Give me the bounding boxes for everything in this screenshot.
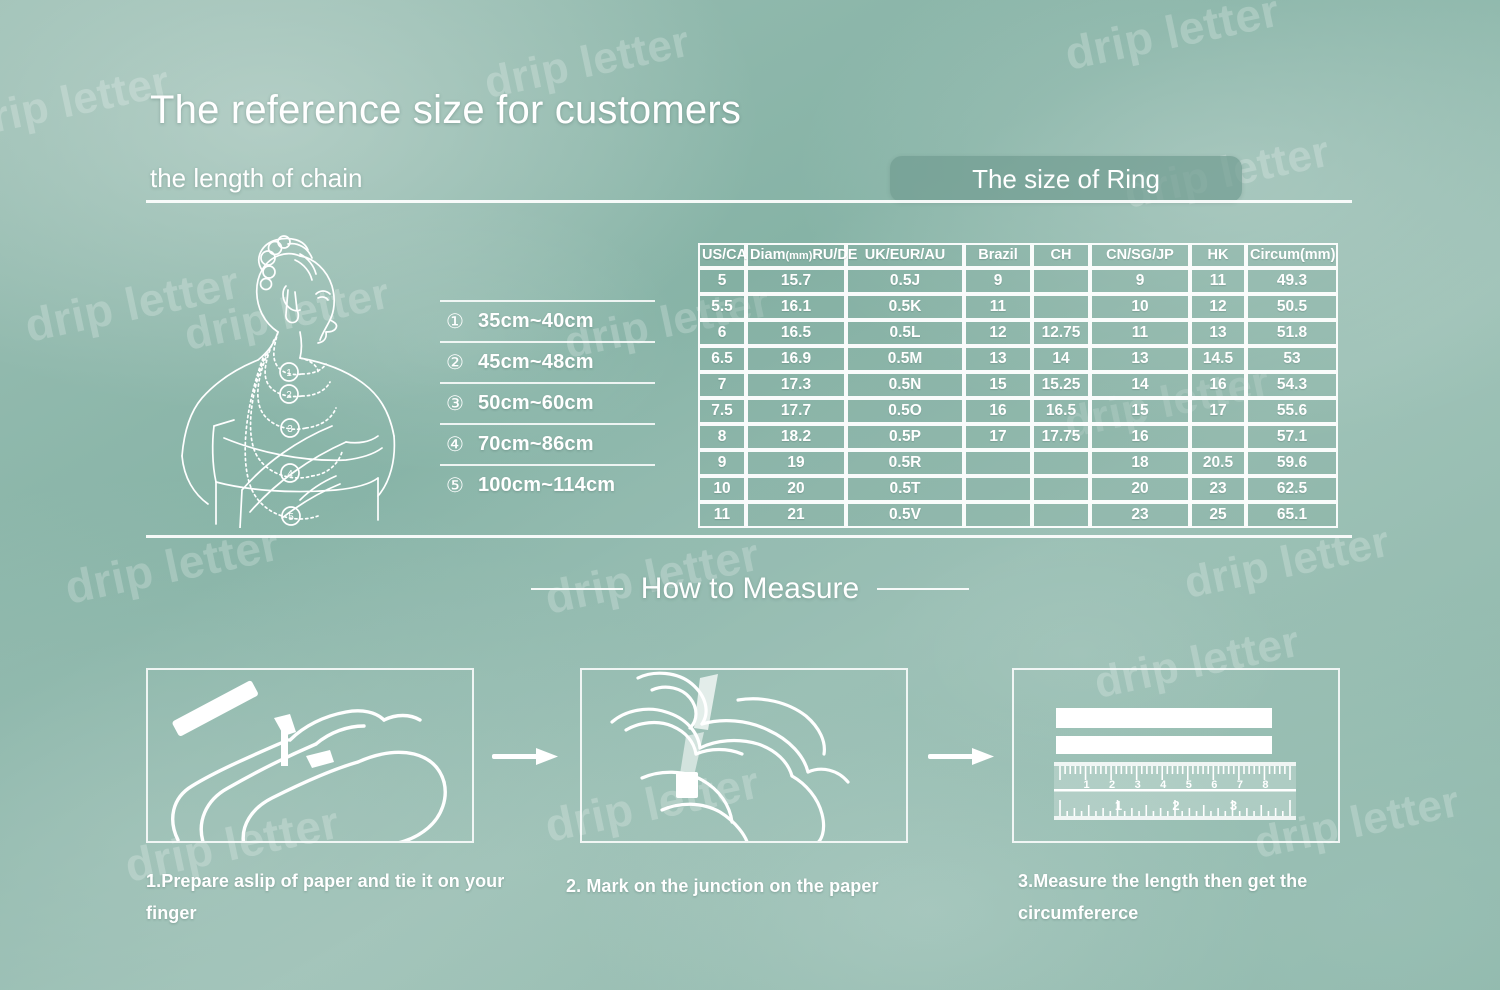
ruler-cm-label: 1 (1083, 779, 1089, 791)
table-cell: 5.5 (698, 294, 746, 320)
chain-marker-3: ③ (446, 394, 464, 414)
table-cell: 14 (1032, 346, 1090, 372)
table-cell: 7 (698, 372, 746, 398)
table-cell: 16.5 (1032, 398, 1090, 424)
table-cell: 13 (964, 346, 1032, 372)
table-cell: 15.25 (1032, 372, 1090, 398)
table-cell: 6.5 (698, 346, 746, 372)
table-cell: 12.75 (1032, 320, 1090, 346)
table-cell: 11 (698, 502, 746, 528)
col-header-uk-eur-au: UK/EUR/AU (846, 243, 964, 268)
table-cell: 19 (746, 450, 846, 476)
table-cell: 0.5L (846, 320, 964, 346)
table-cell: 16.9 (746, 346, 846, 372)
chain-length-list: ①35cm~40cm②45cm~48cm③50cm~60cm④70cm~86cm… (440, 300, 655, 505)
table-cell (964, 502, 1032, 528)
step-1-image (146, 668, 474, 843)
step-1-to-2-arrow (492, 745, 562, 769)
divider-middle (146, 535, 1352, 538)
chain-length-item: ①35cm~40cm (440, 300, 655, 341)
table-row: 616.50.5L1212.75111351.8 (698, 320, 1338, 346)
table-cell: 7.5 (698, 398, 746, 424)
col-header-hk: HK (1190, 243, 1246, 268)
ruler-cm-label: 3 (1135, 779, 1141, 791)
step-3-image: 12345678 123 (1012, 668, 1340, 843)
table-cell: 62.5 (1246, 476, 1338, 502)
page-title: The reference size for customers (150, 88, 741, 133)
table-cell: 13 (1090, 346, 1190, 372)
ruler-inch-label: 1 (1115, 798, 1122, 813)
table-cell: 0.5M (846, 346, 964, 372)
ruler-cm-label: 4 (1160, 779, 1167, 791)
table-cell: 16 (1090, 424, 1190, 450)
col-header-ch: CH (1032, 243, 1090, 268)
table-cell (1190, 424, 1246, 450)
table-cell: 16.5 (746, 320, 846, 346)
poster-content: The reference size for customers the len… (0, 0, 1500, 990)
ruler-cm-label: 6 (1211, 779, 1217, 791)
table-cell: 65.1 (1246, 502, 1338, 528)
table-cell: 17.75 (1032, 424, 1090, 450)
col-header-cn-sg-jp: CN/SG/JP (1090, 243, 1190, 268)
table-cell: 17.3 (746, 372, 846, 398)
svg-text:3: 3 (287, 424, 293, 435)
chain-marker-5: ⑤ (446, 476, 464, 496)
table-cell: 23 (1190, 476, 1246, 502)
table-cell: 17.7 (746, 398, 846, 424)
table-row: 6.516.90.5M13141314.553 (698, 346, 1338, 372)
table-cell: 11 (1190, 268, 1246, 294)
ring-size-table-head: US/CA Diam(mm)RU/DE UK/EUR/AU Brazil CH … (698, 243, 1338, 268)
table-cell (964, 450, 1032, 476)
table-cell: 6 (698, 320, 746, 346)
paper-strip-bottom (1056, 736, 1272, 754)
table-cell: 0.5N (846, 372, 964, 398)
table-cell (1032, 294, 1090, 320)
table-cell: 0.5V (846, 502, 964, 528)
table-cell: 15 (1090, 398, 1190, 424)
table-cell: 0.5J (846, 268, 964, 294)
table-header-row: US/CA Diam(mm)RU/DE UK/EUR/AU Brazil CH … (698, 243, 1338, 268)
table-cell: 14 (1090, 372, 1190, 398)
col-header-us-ca: US/CA (698, 243, 746, 268)
table-cell: 12 (964, 320, 1032, 346)
table-cell (1032, 502, 1090, 528)
step-2-image (580, 668, 908, 843)
svg-text:4: 4 (287, 469, 293, 480)
table-cell: 53 (1246, 346, 1338, 372)
table-row: 515.70.5J991149.3 (698, 268, 1338, 294)
chain-length-item: ④70cm~86cm (440, 423, 655, 464)
divider-top (146, 200, 1352, 203)
chain-length-item: ③50cm~60cm (440, 382, 655, 423)
table-cell: 15.7 (746, 268, 846, 294)
table-row: 9190.5R1820.559.6 (698, 450, 1338, 476)
chain-marker-4: ④ (446, 435, 464, 455)
table-cell (964, 476, 1032, 502)
table-row: 717.30.5N1515.25141654.3 (698, 372, 1338, 398)
table-cell: 12 (1190, 294, 1246, 320)
ring-size-table-body: 515.70.5J991149.35.516.10.5K11101250.561… (698, 268, 1338, 528)
table-cell: 21 (746, 502, 846, 528)
table-cell: 20.5 (1190, 450, 1246, 476)
chain-marker-1: ① (446, 312, 464, 332)
table-cell (1032, 450, 1090, 476)
table-cell: 9 (964, 268, 1032, 294)
table-cell: 10 (698, 476, 746, 502)
svg-text:1: 1 (286, 368, 292, 379)
table-cell: 16 (964, 398, 1032, 424)
ruler-cm-label: 7 (1237, 779, 1243, 791)
table-cell: 16.1 (746, 294, 846, 320)
necklace-length-illustration: 12 34 5 (150, 228, 440, 528)
table-cell: 20 (1090, 476, 1190, 502)
table-cell: 59.6 (1246, 450, 1338, 476)
chain-length-value: 70cm~86cm (478, 433, 594, 456)
ring-size-table: US/CA Diam(mm)RU/DE UK/EUR/AU Brazil CH … (698, 243, 1338, 528)
chain-section-title: the length of chain (150, 163, 363, 194)
table-cell: 17 (964, 424, 1032, 450)
chain-length-item: ⑤100cm~114cm (440, 464, 655, 505)
table-cell: 16 (1190, 372, 1246, 398)
how-to-measure-heading: How to Measure (0, 572, 1500, 606)
table-cell: 10 (1090, 294, 1190, 320)
table-cell: 18 (1090, 450, 1190, 476)
ruler-cm-label: 8 (1262, 779, 1268, 791)
step-2-to-3-arrow (928, 745, 998, 769)
chain-length-value: 35cm~40cm (478, 310, 594, 333)
table-cell: 8 (698, 424, 746, 450)
table-cell: 11 (1090, 320, 1190, 346)
table-cell: 23 (1090, 502, 1190, 528)
table-row: 10200.5T202362.5 (698, 476, 1338, 502)
table-cell: 0.5R (846, 450, 964, 476)
ruler-cm-label: 2 (1109, 779, 1115, 791)
table-cell: 14.5 (1190, 346, 1246, 372)
table-cell: 9 (698, 450, 746, 476)
heading-rule-right (877, 588, 969, 590)
table-cell: 0.5K (846, 294, 964, 320)
chain-length-value: 45cm~48cm (478, 351, 594, 374)
table-cell: 0.5O (846, 398, 964, 424)
table-cell (1032, 268, 1090, 294)
diam-label: Diam (750, 247, 785, 263)
table-cell: 25 (1190, 502, 1246, 528)
table-row: 11210.5V232565.1 (698, 502, 1338, 528)
table-cell: 51.8 (1246, 320, 1338, 346)
ruler-inch-label: 2 (1172, 798, 1179, 813)
ruler-cm-label: 5 (1186, 779, 1192, 791)
ru-de-label: RU/DE (812, 247, 857, 263)
table-cell: 57.1 (1246, 424, 1338, 450)
ruler-illustration: 12345678 123 (1014, 670, 1340, 843)
table-cell: 13 (1190, 320, 1246, 346)
table-cell (1032, 476, 1090, 502)
col-header-circum: Circum(mm) (1246, 243, 1338, 268)
chain-length-value: 100cm~114cm (478, 474, 615, 497)
step-1-caption: 1.Prepare aslip of paper and tie it on y… (146, 865, 506, 929)
step-3-caption: 3.Measure the length then get the circum… (1018, 865, 1358, 929)
chain-length-value: 50cm~60cm (478, 392, 594, 415)
table-cell: 20 (746, 476, 846, 502)
ring-section-badge: The size of Ring (890, 156, 1242, 202)
chain-length-item: ②45cm~48cm (440, 341, 655, 382)
table-cell: 0.5P (846, 424, 964, 450)
table-row: 5.516.10.5K11101250.5 (698, 294, 1338, 320)
table-cell: 55.6 (1246, 398, 1338, 424)
table-cell: 49.3 (1246, 268, 1338, 294)
table-row: 7.517.70.5O1616.5151755.6 (698, 398, 1338, 424)
table-row: 818.20.5P1717.751657.1 (698, 424, 1338, 450)
table-cell: 54.3 (1246, 372, 1338, 398)
svg-text:2: 2 (286, 390, 292, 401)
table-cell: 5 (698, 268, 746, 294)
table-cell: 11 (964, 294, 1032, 320)
how-to-measure-text: How to Measure (641, 572, 859, 606)
diam-unit: (mm) (785, 250, 812, 262)
paper-strip-top (1056, 708, 1272, 728)
table-cell: 18.2 (746, 424, 846, 450)
chain-marker-2: ② (446, 353, 464, 373)
svg-text:5: 5 (288, 512, 294, 523)
col-header-diam-ru-de: Diam(mm)RU/DE (746, 243, 846, 268)
step-2-caption: 2. Mark on the junction on the paper (566, 870, 926, 902)
table-cell: 0.5T (846, 476, 964, 502)
heading-rule-left (531, 588, 623, 590)
table-cell: 9 (1090, 268, 1190, 294)
table-cell: 15 (964, 372, 1032, 398)
ruler-inch-label: 3 (1230, 798, 1237, 813)
col-header-brazil: Brazil (964, 243, 1032, 268)
table-cell: 17 (1190, 398, 1246, 424)
table-cell: 50.5 (1246, 294, 1338, 320)
